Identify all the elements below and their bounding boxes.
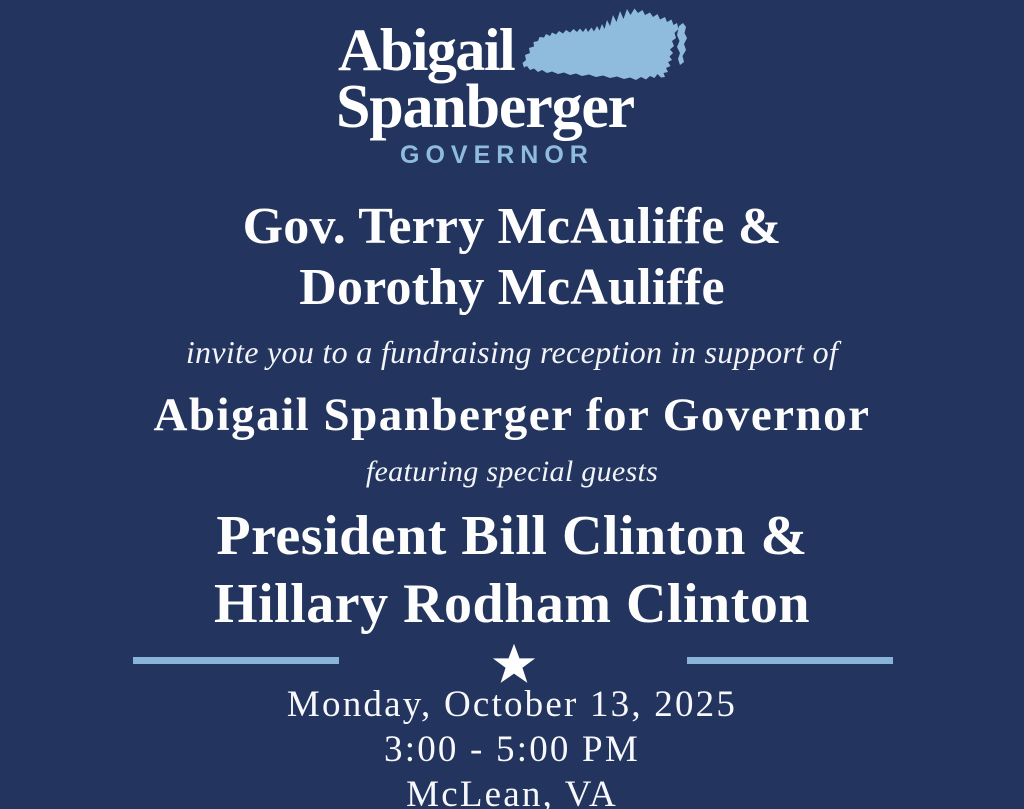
event-location: McLean, VA [0,772,1024,809]
special-guest-names: President Bill Clinton & Hillary Rodham … [0,502,1024,638]
divider-rule-left [133,657,339,664]
event-time: 3:00 - 5:00 PM [0,727,1024,772]
event-details: Monday, October 13, 2025 3:00 - 5:00 PM … [0,682,1024,809]
host-line-2: Dorothy McAuliffe [0,257,1024,318]
campaign-logo: Abigail Spanberger GOVERNOR [0,14,1024,174]
section-divider [0,646,1024,686]
guest-line-1: President Bill Clinton & [0,502,1024,570]
star-icon [492,642,536,686]
guest-line-2: Hillary Rodham Clinton [0,570,1024,638]
logo-first-name: Abigail [338,20,514,80]
honoree-name: Abigail Spanberger for Governor [0,386,1024,444]
virginia-state-outline-icon [516,6,696,101]
divider-rule-right [687,657,893,664]
event-date: Monday, October 13, 2025 [0,682,1024,727]
featuring-text: featuring special guests [0,452,1024,492]
campaign-event-invitation-poster: Abigail Spanberger GOVERNOR Gov. Terry M… [0,0,1024,809]
host-names: Gov. Terry McAuliffe & Dorothy McAuliffe [0,196,1024,318]
logo-office-label: GOVERNOR [400,142,594,168]
host-line-1: Gov. Terry McAuliffe & [0,196,1024,257]
invitation-text: invite you to a fundraising reception in… [0,331,1024,373]
